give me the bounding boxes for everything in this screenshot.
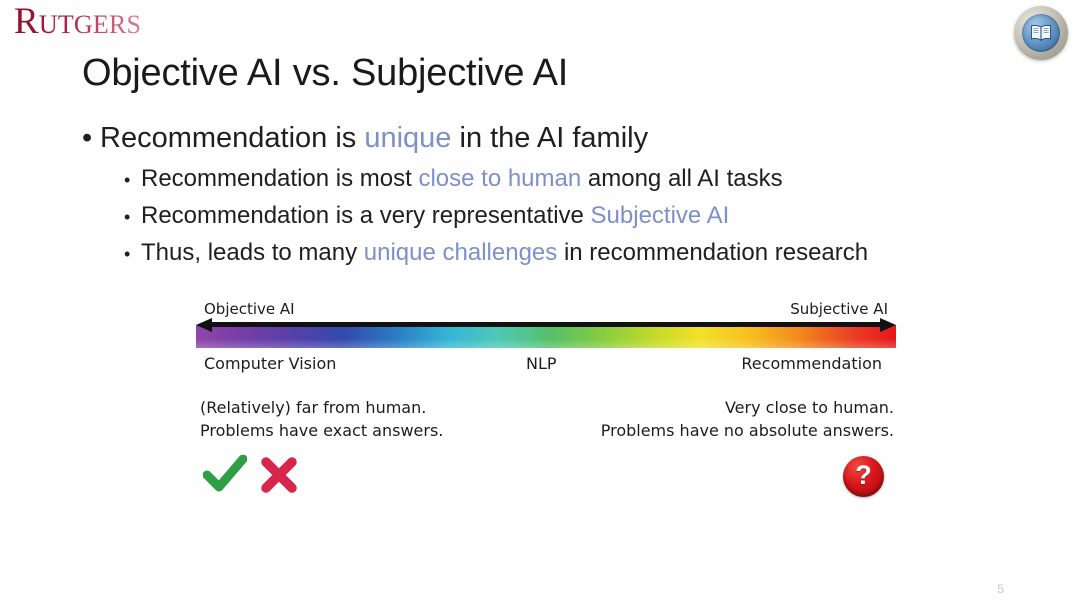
ai-spectrum-figure: Objective AI Subjective AI Computer Visi… <box>196 300 896 382</box>
spectrum-task-labels: Computer Vision NLP Recommendation <box>196 354 896 382</box>
page-title: Objective AI vs. Subjective AI <box>82 50 568 96</box>
right-description-line1: Very close to human. <box>601 396 894 419</box>
sub-bullet-3-highlight: unique challenges <box>364 239 558 266</box>
bullet-marker: • <box>124 237 141 272</box>
sub-bullet-2: •Recommendation is a very representative… <box>124 198 1004 235</box>
bullet-main-highlight: unique <box>364 122 451 154</box>
arrow-left-icon <box>196 318 212 332</box>
left-description: (Relatively) far from human. Problems ha… <box>200 396 443 442</box>
open-book-seal-icon <box>1014 6 1068 60</box>
sub-bullet-1-pre: Recommendation is most <box>141 165 418 192</box>
left-description-line1: (Relatively) far from human. <box>200 396 443 419</box>
sub-bullet-3-post: in recommendation research <box>557 239 868 266</box>
spectrum-bar-wrap <box>196 322 896 348</box>
red-cross-icon <box>259 455 299 495</box>
rutgers-wordmark: Rutgers <box>14 1 141 43</box>
question-glyph: ? <box>855 462 872 489</box>
red-question-mark-icon: ? <box>843 456 884 497</box>
objective-verdict-icons <box>203 455 299 495</box>
sub-bullet-1-post: among all AI tasks <box>581 165 782 192</box>
bullet-marker: • <box>124 200 141 235</box>
page-number: 5 <box>997 582 1004 596</box>
arrow-shaft <box>208 322 884 327</box>
task-label-computer-vision: Computer Vision <box>204 354 336 373</box>
task-label-nlp: NLP <box>526 354 557 373</box>
bullet-marker: • <box>124 163 141 198</box>
arrow-right-icon <box>880 318 896 332</box>
sub-bullet-2-pre: Recommendation is a very representative <box>141 202 591 229</box>
bullet-main: •Recommendation is unique in the AI fami… <box>82 120 648 156</box>
spectrum-label-subjective: Subjective AI <box>790 300 888 318</box>
sub-bullet-1-highlight: close to human <box>418 165 581 192</box>
spectrum-gradient-bar <box>196 325 896 348</box>
sub-bullet-3: •Thus, leads to many unique challenges i… <box>124 235 1004 272</box>
slide: Rutgers Objective AI vs. Subjective AI •… <box>0 0 1080 608</box>
task-label-recommendation: Recommendation <box>741 354 882 373</box>
right-description-line2: Problems have no absolute answers. <box>601 419 894 442</box>
bullet-main-pre: Recommendation is <box>100 122 364 154</box>
sub-bullet-list: •Recommendation is most close to human a… <box>124 161 1004 272</box>
left-description-line2: Problems have exact answers. <box>200 419 443 442</box>
seal-inner-disc <box>1022 14 1060 52</box>
bullet-marker: • <box>82 120 100 156</box>
sub-bullet-1: •Recommendation is most close to human a… <box>124 161 1004 198</box>
spectrum-axis-labels: Objective AI Subjective AI <box>196 300 896 322</box>
green-check-icon <box>203 455 247 495</box>
right-description: Very close to human. Problems have no ab… <box>601 396 894 442</box>
open-book-icon <box>1029 24 1053 42</box>
spectrum-label-objective: Objective AI <box>204 300 295 318</box>
bullet-main-post: in the AI family <box>451 122 648 154</box>
sub-bullet-3-pre: Thus, leads to many <box>141 239 364 266</box>
sub-bullet-2-highlight: Subjective AI <box>591 202 730 229</box>
